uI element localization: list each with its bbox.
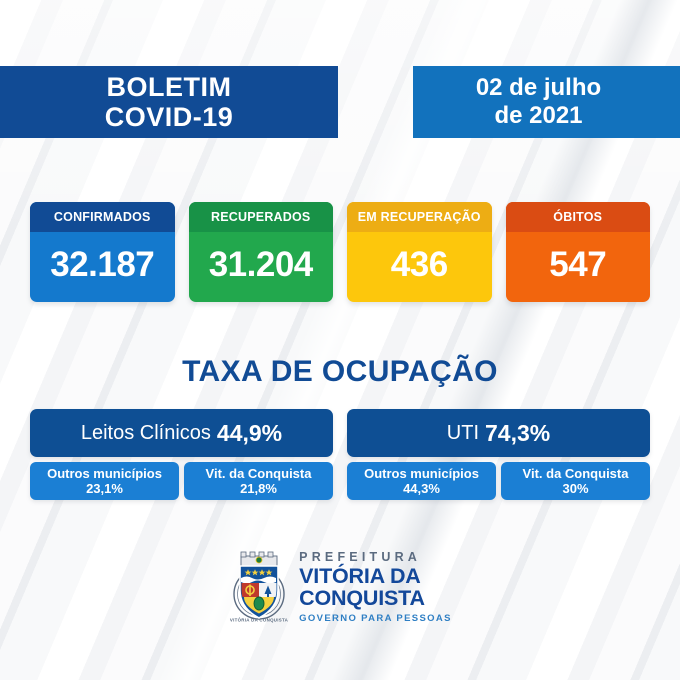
occupancy-panel-rate: 44,9%: [217, 420, 282, 447]
occupancy-sub-value: 21,8%: [240, 481, 277, 496]
occupancy-sub-name: Outros municípios: [364, 466, 479, 481]
occupancy-main-bar: UTI 74,3%: [347, 409, 650, 457]
bulletin-title-line1: BOLETIM: [107, 72, 232, 102]
logo-line-conquista: CONQUISTA: [299, 587, 452, 610]
occupancy-panel-uti: UTI 74,3% Outros municípios 44,3% Vit. d…: [347, 409, 650, 500]
occupancy-sub-row: Outros municípios 23,1% Vit. da Conquist…: [30, 462, 333, 500]
logo-wordmark: PREFEITURA VITÓRIA DA CONQUISTA GOVERNO …: [299, 550, 452, 624]
stat-card-label: CONFIRMADOS: [30, 202, 175, 232]
svg-text:VITÓRIA DA CONQUISTA: VITÓRIA DA CONQUISTA: [230, 618, 289, 623]
stat-card-value: 547: [506, 232, 651, 302]
occupancy-panel-rate: 74,3%: [485, 420, 550, 447]
occupancy-sub-vit-da-conquista: Vit. da Conquista 30%: [501, 462, 650, 500]
header: BOLETIM COVID-19 02 de julho de 2021: [0, 0, 680, 150]
occupancy-sub-value: 44,3%: [403, 481, 440, 496]
stat-card-value: 31.204: [189, 232, 334, 302]
stat-card-value: 436: [347, 232, 492, 302]
occupancy-panels: Leitos Clínicos 44,9% Outros municípios …: [30, 409, 650, 500]
occupancy-section-title: TAXA DE OCUPAÇÃO: [0, 355, 680, 389]
bulletin-page: BOLETIM COVID-19 02 de julho de 2021 CON…: [0, 0, 680, 680]
stat-card-label: ÓBITOS: [506, 202, 651, 232]
occupancy-panel-name: UTI: [447, 422, 479, 445]
stat-card-confirmados: CONFIRMADOS 32.187: [30, 202, 175, 302]
occupancy-sub-name: Outros municípios: [47, 466, 162, 481]
occupancy-sub-outros-municipios: Outros municípios 23,1%: [30, 462, 179, 500]
occupancy-panel-name: Leitos Clínicos: [81, 422, 211, 445]
stat-card-value: 32.187: [30, 232, 175, 302]
logo-tagline: GOVERNO PARA PESSOAS: [299, 613, 452, 624]
occupancy-sub-value: 23,1%: [86, 481, 123, 496]
stat-card-row: CONFIRMADOS 32.187 RECUPERADOS 31.204 EM…: [30, 202, 650, 302]
logo-line-vitoria-da: VITÓRIA DA: [299, 566, 452, 588]
coat-of-arms-icon: VITÓRIA DA CONQUISTA: [228, 550, 290, 624]
occupancy-main-bar: Leitos Clínicos 44,9%: [30, 409, 333, 457]
occupancy-sub-outros-municipios: Outros municípios 44,3%: [347, 462, 496, 500]
stat-card-label: EM RECUPERAÇÃO: [347, 202, 492, 232]
bulletin-date-line2: de 2021: [494, 102, 582, 130]
bulletin-date-line1: 02 de julho: [476, 74, 601, 102]
occupancy-sub-row: Outros municípios 44,3% Vit. da Conquist…: [347, 462, 650, 500]
occupancy-sub-value: 30%: [562, 481, 588, 496]
occupancy-sub-name: Vit. da Conquista: [523, 466, 629, 481]
bulletin-title-box: BOLETIM COVID-19: [0, 66, 338, 138]
stat-card-recuperados: RECUPERADOS 31.204: [189, 202, 334, 302]
occupancy-sub-vit-da-conquista: Vit. da Conquista 21,8%: [184, 462, 333, 500]
stat-card-obitos: ÓBITOS 547: [506, 202, 651, 302]
bulletin-title-line2: COVID-19: [105, 102, 234, 132]
stat-card-em-recuperacao: EM RECUPERAÇÃO 436: [347, 202, 492, 302]
stat-card-label: RECUPERADOS: [189, 202, 334, 232]
prefeitura-logo: VITÓRIA DA CONQUISTA PREFEITURA VITÓRIA …: [0, 550, 680, 624]
occupancy-sub-name: Vit. da Conquista: [206, 466, 312, 481]
bulletin-date-box: 02 de julho de 2021: [413, 66, 680, 138]
occupancy-panel-leitos-clinicos: Leitos Clínicos 44,9% Outros municípios …: [30, 409, 333, 500]
